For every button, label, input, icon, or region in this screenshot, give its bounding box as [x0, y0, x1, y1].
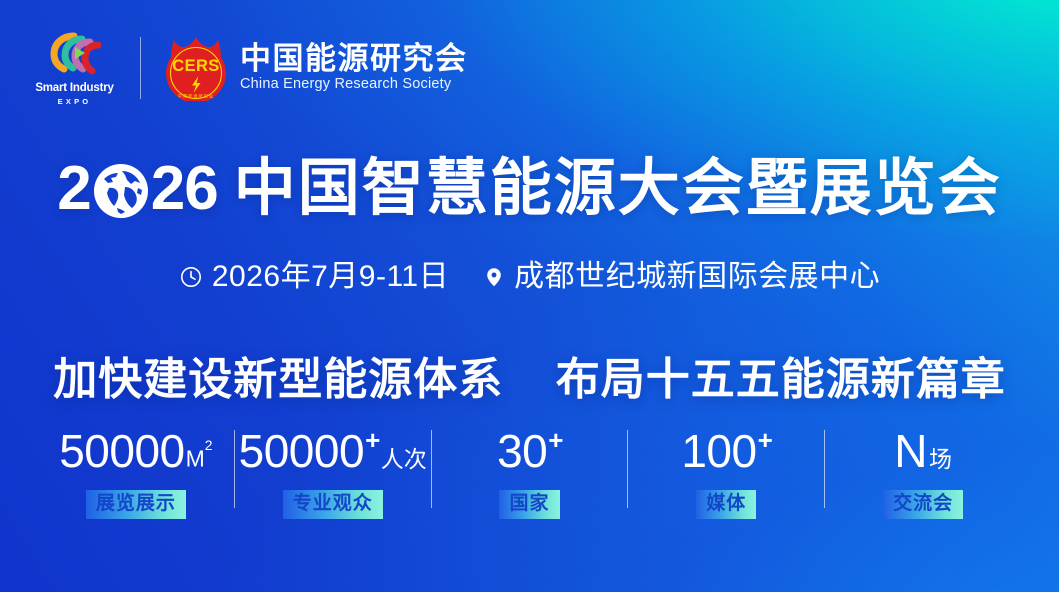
stat-number: 30 [497, 428, 547, 474]
stat-number: N [894, 428, 927, 474]
stat-number: 100 [681, 428, 756, 474]
stat-unit: M2 [186, 446, 213, 471]
event-slogan: 加快建设新型能源体系 布局十五五能源新篇章 [0, 358, 1059, 402]
title-block: 2 26 中国智慧能源大会暨展览会 [0, 158, 1059, 220]
cers-text-block: 中国能源研究会 China Energy Research Society [240, 43, 468, 93]
stat-label: 国家 [499, 490, 559, 519]
logo-header: Smart Industry EXPO CERS 中国能源研究会 中国能源研究会… [27, 27, 468, 109]
event-location: 成都世纪城新国际会展中心 [483, 262, 880, 292]
title-year-suffix: 26 [151, 158, 218, 220]
svg-text:中国能源研究会: 中国能源研究会 [178, 92, 214, 98]
slogan-left: 加快建设新型能源体系 [53, 355, 503, 404]
swoosh-logo-icon [44, 31, 106, 79]
slogan-right: 布局十五五能源新篇章 [556, 355, 1006, 404]
stat-value: 30 + [497, 428, 562, 474]
stat-value: 50000 + 人次 [239, 428, 427, 474]
stat-label: 专业观众 [283, 490, 383, 519]
stat-label: 媒体 [696, 490, 756, 519]
event-banner: Smart Industry EXPO CERS 中国能源研究会 中国能源研究会… [0, 0, 1059, 592]
stat-item: 100 + 媒体 [628, 428, 824, 519]
event-date: 2026年7月9-11日 [179, 262, 449, 292]
stat-label: 交流会 [883, 490, 963, 519]
stats-row: 50000 M2 展览展示 50000 + 人次 专业观众 30 + 国家 [38, 428, 1021, 519]
stat-number: 50000 [59, 428, 184, 474]
stat-unit: 人次 [381, 448, 427, 471]
smart-industry-expo-logo[interactable]: Smart Industry EXPO [27, 31, 122, 105]
event-date-text: 2026年7月9-11日 [212, 262, 449, 292]
map-pin-icon [483, 265, 505, 289]
stat-value: N 场 [894, 428, 952, 474]
stat-label: 展览展示 [86, 490, 186, 519]
cers-name-cn: 中国能源研究会 [240, 43, 468, 76]
cers-logo[interactable]: CERS 中国能源研究会 中国能源研究会 China Energy Resear… [163, 35, 468, 101]
event-location-text: 成都世纪城新国际会展中心 [514, 262, 880, 292]
stat-item: 30 + 国家 [432, 428, 628, 519]
globe-earth-icon [92, 162, 150, 220]
cers-flame-badge-icon: CERS 中国能源研究会 [163, 35, 229, 101]
expo-label: EXPO [58, 98, 92, 106]
stat-number: 50000 [239, 428, 364, 474]
stat-value: 100 + [681, 428, 771, 474]
stat-item: 50000 M2 展览展示 [38, 428, 234, 519]
stat-value: 50000 M2 [59, 428, 212, 474]
cers-name-en: China Energy Research Society [240, 77, 468, 93]
title-text-cn: 中国智慧能源大会暨展览会 [234, 158, 1002, 220]
stat-item: N 场 交流会 [825, 428, 1021, 519]
title-year-prefix: 2 [57, 158, 90, 220]
header-divider [140, 37, 141, 99]
stat-item: 50000 + 人次 专业观众 [235, 428, 431, 519]
clock-icon [179, 265, 203, 289]
event-meta: 2026年7月9-11日 成都世纪城新国际会展中心 [0, 262, 1059, 292]
page-title: 2 26 中国智慧能源大会暨展览会 [57, 158, 1001, 220]
stat-unit: 场 [929, 448, 952, 471]
smart-industry-label: Smart Industry [35, 83, 113, 95]
svg-text:CERS: CERS [172, 57, 219, 75]
